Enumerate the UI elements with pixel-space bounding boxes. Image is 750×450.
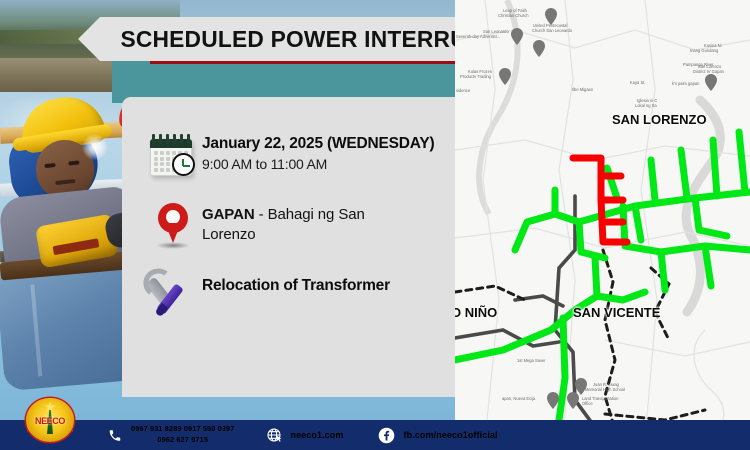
location-row: GAPAN - Bahagi ng San Lorenzo bbox=[144, 203, 442, 249]
map-pin-icon bbox=[144, 203, 202, 249]
calendar-clock-icon bbox=[144, 133, 202, 177]
location-text: GAPAN - Bahagi ng San Lorenzo bbox=[202, 205, 412, 246]
map-poi-label: Christian Church bbox=[498, 13, 529, 18]
work-description: Relocation of Transformer bbox=[202, 277, 390, 295]
affected-area-map[interactable]: SAN LORENZOO NIÑOSAN VICENTE Leap of Fai… bbox=[455, 0, 750, 450]
phone-icon bbox=[108, 428, 122, 443]
map-poi-label: Seventh-day Adventist... bbox=[456, 34, 500, 39]
facebook-icon bbox=[378, 427, 395, 444]
map-poi-label: 1st Mega Saver bbox=[517, 358, 546, 363]
map-poi-label: Memorial High School bbox=[585, 387, 625, 392]
map-poi-label: k's pairs gapan bbox=[672, 81, 699, 86]
worker-eye-left bbox=[44, 163, 55, 168]
map-poi-label: Church San Leonardo bbox=[532, 28, 572, 33]
map-poi-label: District IV Gapan bbox=[693, 69, 724, 74]
info-card: January 22, 2025 (WEDNESDAY) 9:00 AM to … bbox=[122, 97, 460, 397]
location-area: GAPAN bbox=[202, 206, 255, 223]
map-label: SAN VICENTE bbox=[573, 305, 660, 320]
map-poi-label: sidence bbox=[456, 88, 470, 93]
power-interruption-poster: SCHEDULED POWER INTERRUPTION bbox=[0, 0, 750, 450]
schedule-time: 9:00 AM to 11:00 AM bbox=[202, 156, 434, 172]
globe-icon bbox=[266, 427, 282, 443]
photo-sun-glare bbox=[82, 134, 108, 160]
worker-mouth bbox=[55, 179, 75, 185]
location-separator: - bbox=[255, 206, 268, 223]
title-ribbon: SCHEDULED POWER INTERRUPTION bbox=[78, 17, 460, 61]
phone-numbers: 0967 931 8289 0917 550 0397 0962 627 971… bbox=[131, 424, 234, 445]
worker-eye-right bbox=[68, 160, 79, 165]
schedule-date: January 22, 2025 (WEDNESDAY) bbox=[202, 135, 434, 153]
map-poi-label: Inang Gundang bbox=[690, 48, 718, 53]
logo-text: NEECO bbox=[27, 416, 73, 426]
map-poi-label: Pampanga River bbox=[683, 62, 714, 67]
map-label: SAN LORENZO bbox=[612, 112, 707, 127]
map-poi-label: apan, Nueva Ecija bbox=[502, 396, 535, 401]
map-poi-label: Lokal ng Sa bbox=[635, 103, 657, 108]
phone-line-1: 0967 931 8289 0917 550 0397 bbox=[131, 424, 234, 433]
website-label[interactable]: neeco1.com bbox=[290, 430, 343, 440]
facebook-label[interactable]: fb.com/neeco1official bbox=[404, 430, 498, 440]
phone-line-2: 0962 627 9715 bbox=[131, 435, 234, 446]
map-poi-label: Products Trading bbox=[460, 74, 491, 79]
map-poi-label: Office bbox=[582, 401, 593, 406]
work-row: Relocation of Transformer bbox=[144, 275, 442, 315]
map-poi-label: Ilbe Migaen bbox=[572, 87, 593, 92]
clock-icon bbox=[172, 153, 195, 176]
map-poi-label: Kuya St. bbox=[630, 80, 645, 85]
contact-footer: 0967 931 8289 0917 550 0397 0962 627 971… bbox=[0, 420, 750, 450]
map-label: O NIÑO bbox=[455, 305, 497, 320]
wrench-screwdriver-icon bbox=[144, 275, 202, 315]
schedule-row: January 22, 2025 (WEDNESDAY) 9:00 AM to … bbox=[144, 133, 442, 177]
neeco-logo: NEECO bbox=[22, 396, 78, 444]
